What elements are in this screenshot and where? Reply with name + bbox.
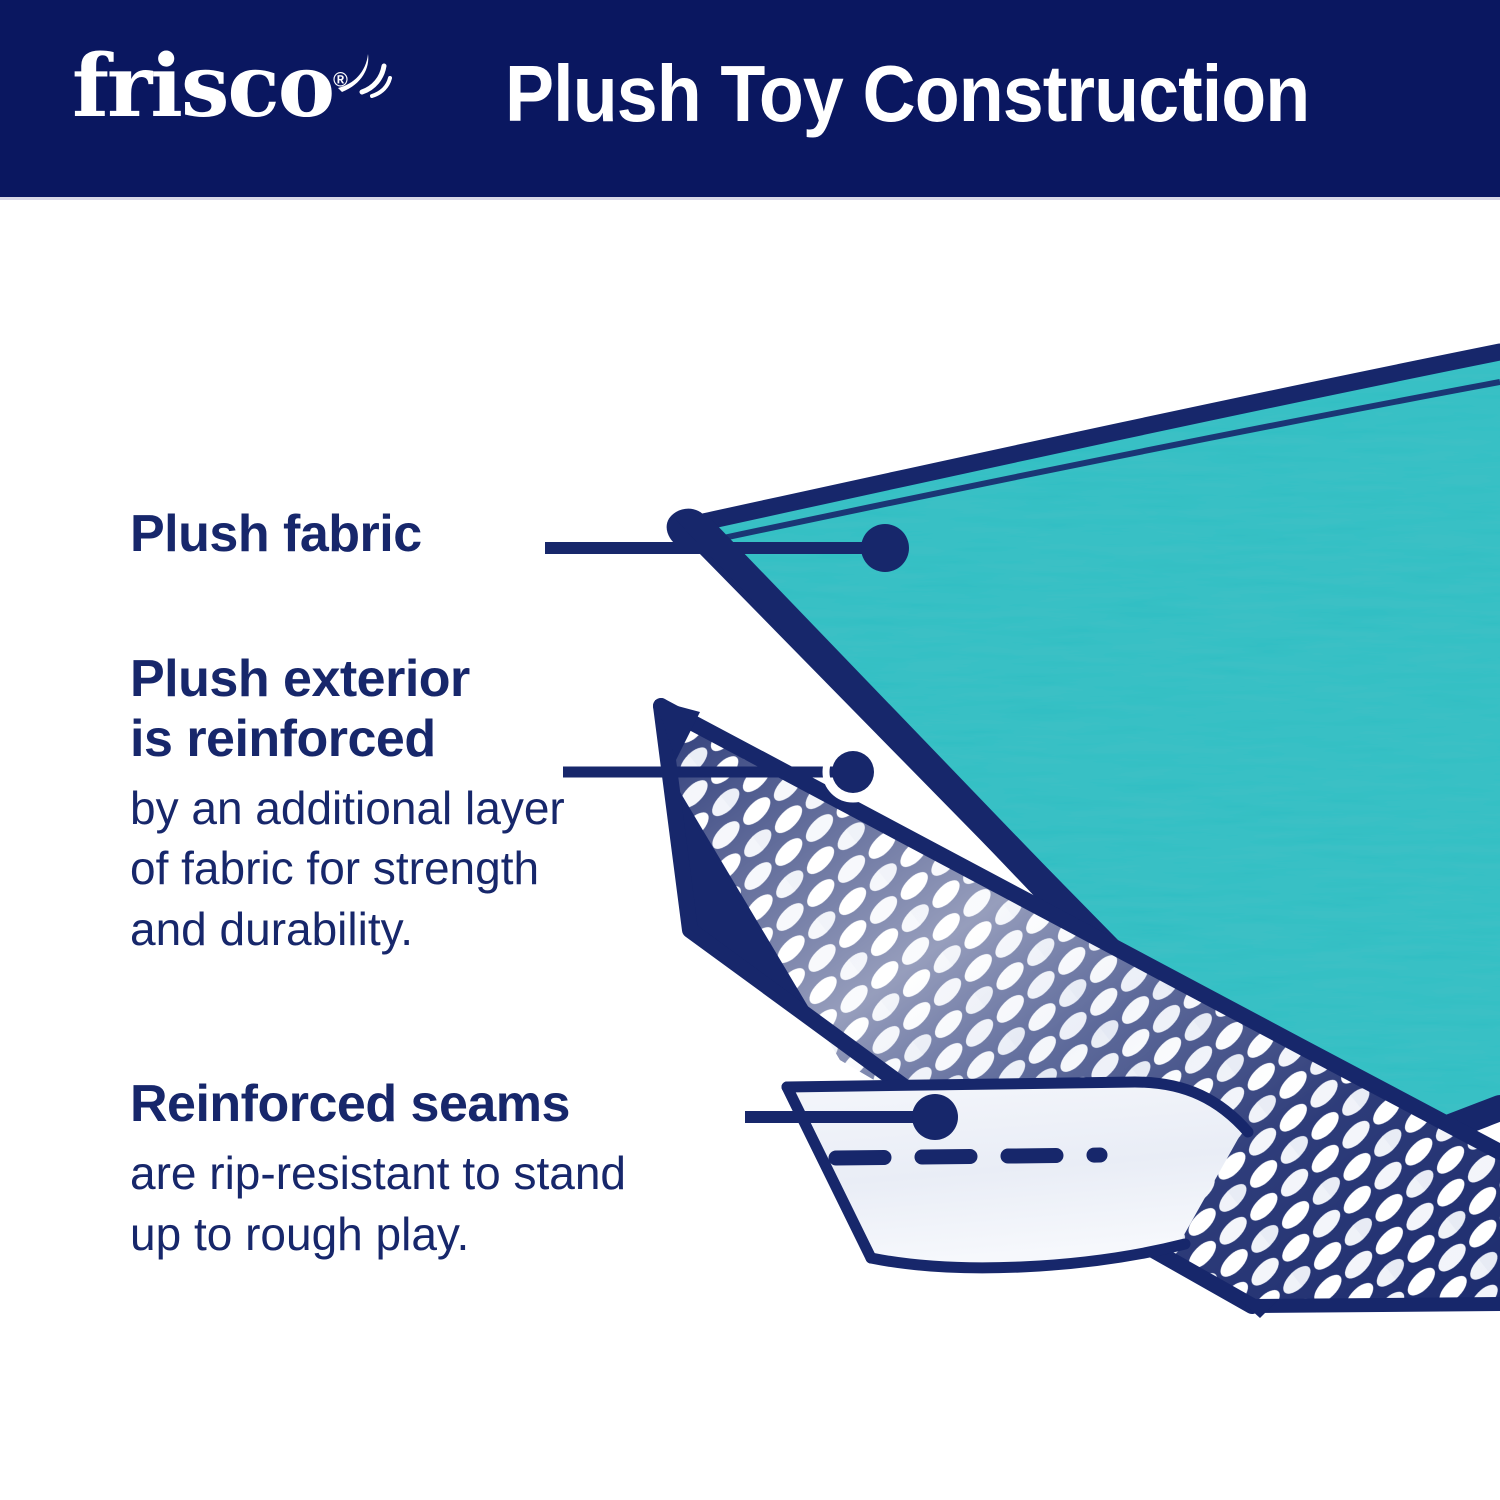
callout-reinforced-seams: Reinforced seams are rip-resistant to st… — [130, 1075, 626, 1264]
fabric-fold-wedge — [676, 520, 1338, 1196]
leader-dot-reinforced-seams — [912, 1094, 958, 1140]
callout-body: by an additional layer of fabric for str… — [130, 778, 565, 960]
plush-fabric-panel — [667, 352, 1500, 1172]
page-title: Plush Toy Construction — [505, 48, 1309, 140]
callout-heading: Reinforced seams — [130, 1075, 626, 1135]
frisco-swoosh-icon — [332, 48, 392, 98]
callout-heading-line-2: is reinforced — [130, 710, 565, 770]
leader-dot-plush-exterior — [832, 751, 874, 793]
callout-heading-line-1: Plush exterior — [130, 650, 565, 710]
leader-dot-halo-plush-exterior — [826, 745, 880, 799]
callout-heading: Plush fabric — [130, 505, 422, 565]
callout-plush-fabric: Plush fabric — [130, 505, 422, 565]
callout-plush-exterior-reinforced: Plush exterior is reinforced by an addit… — [130, 650, 565, 960]
frisco-logo: frisco® — [72, 44, 348, 130]
header-bar: frisco® Plush Toy Construction — [0, 0, 1500, 200]
callout-leaders — [545, 524, 958, 1140]
infographic-page: frisco® Plush Toy Construction — [0, 0, 1500, 1500]
callout-body: are rip-resistant to stand up to rough p… — [130, 1143, 626, 1264]
callout-body-line-3: and durability. — [130, 899, 565, 960]
frisco-logo-text: frisco — [72, 36, 333, 137]
seam-flap — [787, 1082, 1248, 1268]
reinforcement-mesh-band — [600, 660, 1500, 1360]
callout-body-line-1: are rip-resistant to stand — [130, 1143, 626, 1204]
leader-dot-plush-fabric — [861, 524, 909, 572]
stitch-dashes — [836, 1155, 1100, 1158]
callout-body-line-2: up to rough play. — [130, 1204, 626, 1265]
callout-body-line-2: of fabric for strength — [130, 838, 565, 899]
callout-body-line-1: by an additional layer — [130, 778, 565, 839]
